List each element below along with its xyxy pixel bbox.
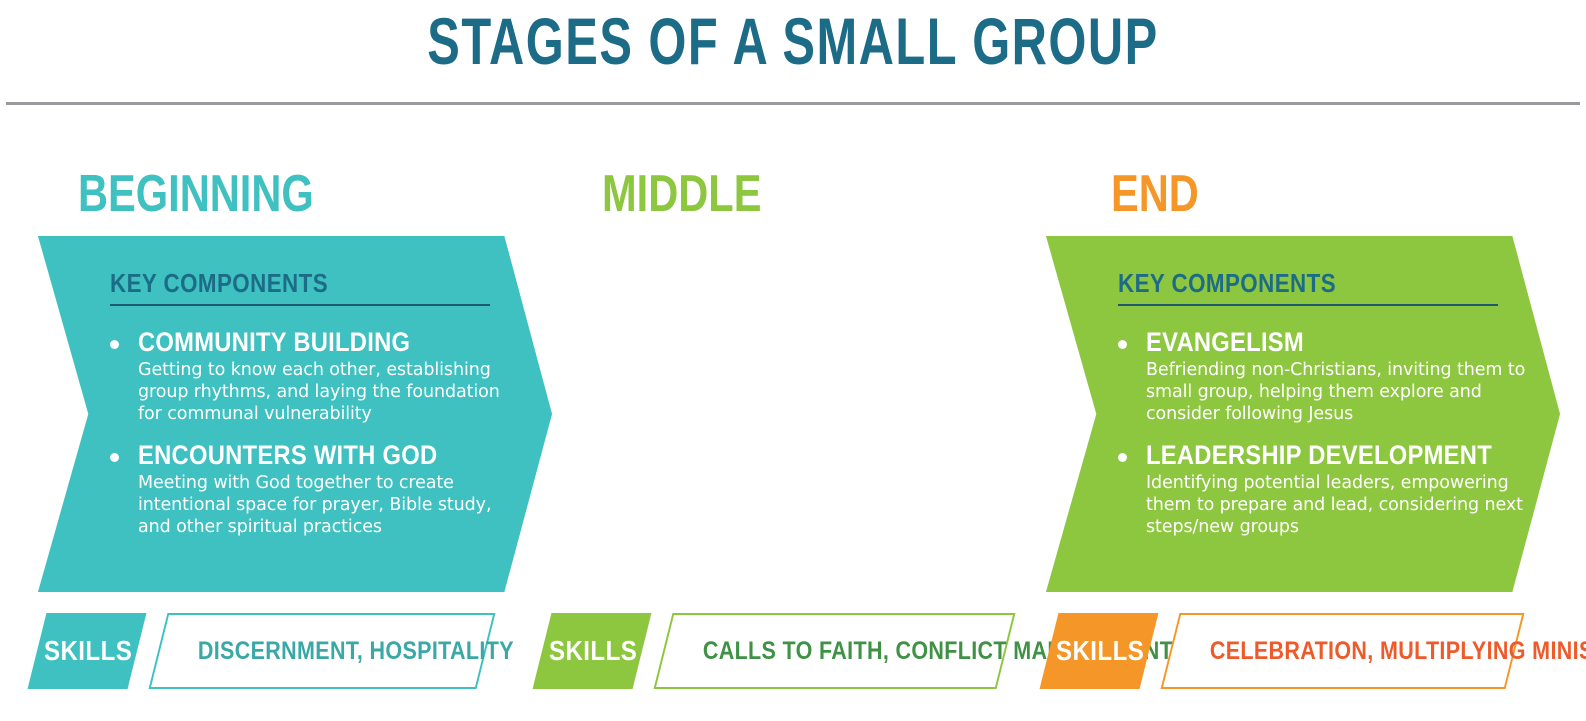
page-title: STAGES OF A SMALL GROUP [206, 6, 1380, 77]
stage-label-beginning: BEGINNING [78, 168, 314, 220]
skills-label-badge: SKILLS [533, 613, 652, 689]
stage-panel-beginning: KEY COMPONENTS COMMUNITY BUILDING Gettin… [30, 236, 560, 592]
key-components-heading: KEY COMPONENTS [110, 268, 328, 299]
skills-row-middle: SKILLS CALLS TO FAITH, CONFLICT MANAGEME… [505, 613, 1025, 689]
component-description: Getting to know each other, establishing… [138, 359, 524, 426]
bullet-dot-icon [110, 340, 119, 349]
skills-row-end: SKILLS CELEBRATION, MULTIPLYING MINISTRY [1012, 613, 1572, 689]
stage-label-middle: MIDDLE [602, 168, 761, 220]
skills-value-box: CALLS TO FAITH, CONFLICT MANAGEMENT [654, 613, 1016, 689]
skills-value-text: DISCERNMENT, HOSPITALITY [160, 615, 439, 687]
skills-label-badge: SKILLS [1040, 613, 1159, 689]
component-description: Meeting with God together to create inte… [138, 472, 524, 539]
skills-value-box: DISCERNMENT, HOSPITALITY [149, 613, 496, 689]
list-item: COMMUNITY BUILDING Getting to know each … [104, 328, 524, 426]
skills-label-text: SKILLS [44, 613, 130, 689]
component-title: ENCOUNTERS WITH GOD [138, 441, 478, 471]
skills-label-text: SKILLS [549, 613, 635, 689]
stage-label-end: END [1111, 168, 1199, 220]
stage-panel-body: KEY COMPONENTS COMMUNITY BUILDING Gettin… [30, 236, 560, 592]
skills-value-text: CALLS TO FAITH, CONFLICT MANAGEMENT [665, 615, 957, 687]
bullet-dot-icon [110, 453, 119, 462]
list-item: ENCOUNTERS WITH GOD Meeting with God tog… [104, 441, 524, 539]
skills-value-box: CELEBRATION, MULTIPLYING MINISTRY [1161, 613, 1525, 689]
skills-row-beginning: SKILLS DISCERNMENT, HOSPITALITY [0, 613, 520, 689]
infographic-canvas: STAGES OF A SMALL GROUP BEGINNING KEY CO… [0, 0, 1586, 721]
header-divider [6, 102, 1580, 105]
skills-value-text: CELEBRATION, MULTIPLYING MINISTRY [1172, 615, 1465, 687]
skills-label-badge: SKILLS [28, 613, 147, 689]
skills-label-text: SKILLS [1056, 613, 1142, 689]
component-list: COMMUNITY BUILDING Getting to know each … [104, 328, 524, 539]
component-title: COMMUNITY BUILDING [138, 328, 478, 358]
key-components-underline [110, 304, 490, 306]
